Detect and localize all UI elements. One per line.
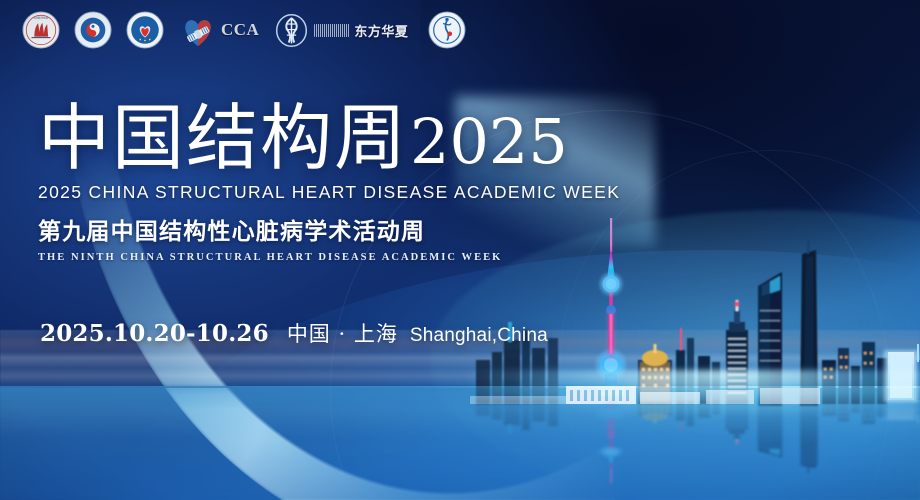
- subtitle-chinese: 第九届中国结构性心脏病学术活动周: [38, 212, 638, 246]
- conference-banner: 中国医师协会: [0, 0, 920, 500]
- banner-text-block: 中国结构周 2025 2025 CHINA STRUCTURAL HEART D…: [38, 104, 638, 263]
- logo-hospital-emblem[interactable]: [428, 11, 466, 49]
- event-date: 2025.10.20-10.26: [40, 320, 269, 347]
- logo-heart-shield[interactable]: [126, 11, 164, 49]
- heart-handshake-icon: [178, 11, 218, 49]
- title-year: 2025: [410, 113, 568, 172]
- logo-cca[interactable]: CCA: [178, 11, 259, 49]
- sponsor-logo-strip: 中国医师协会: [22, 8, 466, 52]
- subtitle-english: 2025 CHINA STRUCTURAL HEART DISEASE ACAD…: [38, 182, 638, 203]
- skyline-reflection: [470, 392, 920, 487]
- event-location-chinese: 中国 · 上海: [287, 318, 398, 348]
- main-title: 中国结构周 2025: [38, 104, 638, 172]
- event-location-english: Shanghai,China: [410, 325, 548, 347]
- oriental-huaxia-wordmark: 东方华夏: [354, 21, 408, 40]
- tower-glow: [596, 273, 626, 380]
- oriental-huaxia-subtext: [314, 24, 350, 37]
- logo-medical-society-blue[interactable]: [74, 11, 112, 49]
- date-location-line: 2025.10.20-10.26 中国 · 上海 Shanghai,China: [40, 318, 548, 348]
- logo-cardiovascular-association[interactable]: 中国医师协会: [22, 11, 60, 49]
- subtitle-english-small: THE NINTH CHINA STRUCTURAL HEART DISEASE…: [38, 252, 638, 263]
- svg-text:中国医师协会: 中国医师协会: [34, 16, 49, 20]
- cca-wordmark: CCA: [221, 20, 259, 40]
- oriental-huaxia-emblem: [273, 12, 310, 49]
- title-chinese: 中国结构周: [38, 104, 408, 172]
- logo-oriental-huaxia[interactable]: 东方华夏: [273, 12, 408, 49]
